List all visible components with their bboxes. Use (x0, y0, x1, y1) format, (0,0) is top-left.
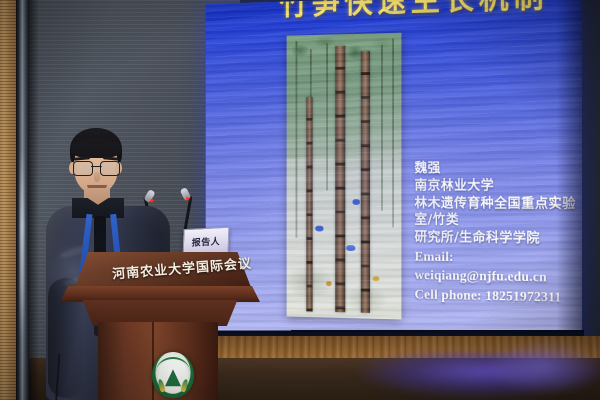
nose (94, 172, 100, 182)
projection-screen: 竹笋快速生长机制 魏强 南京林业大学 林木遗传育种全国重点实验室/竹类 研究所/… (206, 0, 582, 364)
conference-photo: 竹笋快速生长机制 魏强 南京林业大学 林木遗传育种全国重点实验室/竹类 研究所/… (0, 0, 600, 400)
wood-grain-texture (0, 0, 16, 400)
microphone-led (186, 197, 189, 200)
podium-seam (152, 322, 154, 400)
hair-fringe (71, 138, 121, 158)
nameplate-text: 报告人 (184, 234, 228, 249)
lens (73, 161, 93, 176)
floor-blue-light-spill (480, 340, 600, 400)
screen-edge-shadow (556, 0, 582, 364)
metal-gleam (20, 150, 24, 340)
jamb-shadow (29, 0, 39, 400)
podium-lip (60, 286, 260, 302)
lens (100, 161, 120, 176)
emblem-peak (165, 369, 181, 386)
screen-moire (206, 0, 582, 364)
university-emblem (152, 352, 194, 398)
